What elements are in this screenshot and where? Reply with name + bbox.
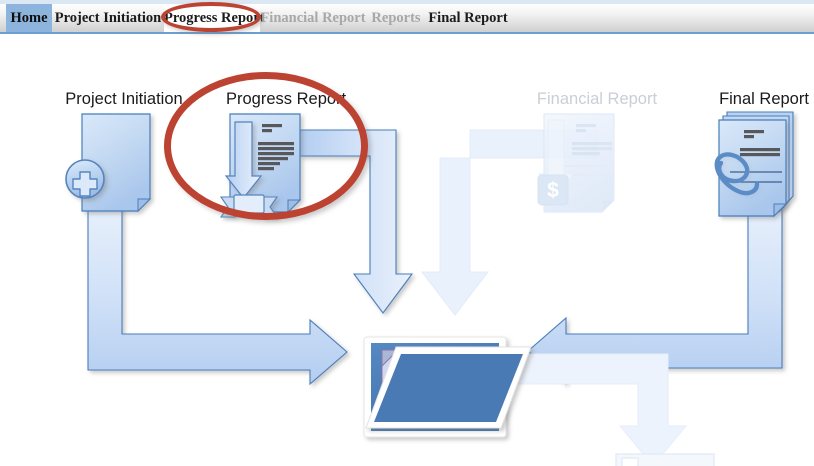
svg-text:$: $ bbox=[547, 179, 559, 202]
tab-financial-report-label: Financial Report bbox=[260, 10, 365, 26]
tab-reports-label: Reports bbox=[371, 10, 420, 26]
tab-final-report[interactable]: Final Report bbox=[426, 4, 510, 32]
dollar-badge-icon: $ bbox=[538, 175, 568, 205]
tab-bar: Home Project Initiation Progress Report … bbox=[0, 0, 814, 34]
tab-final-report-label: Final Report bbox=[428, 10, 507, 26]
tab-progress-report-label: Progress Report bbox=[164, 10, 265, 26]
node-label-project-initiation: Project Initiation bbox=[64, 90, 184, 109]
node-reports-repository[interactable] bbox=[364, 337, 531, 437]
tab-reports: Reports bbox=[366, 4, 426, 32]
node-label-financial-report: Financial Report bbox=[536, 90, 658, 109]
tab-financial-report: Financial Report bbox=[260, 4, 366, 32]
diagram-canvas: $ bbox=[0, 34, 814, 466]
tab-home[interactable]: Home bbox=[6, 4, 52, 32]
connector-project-initiation-to-repository bbox=[88, 199, 347, 384]
tab-project-initiation[interactable]: Project Initiation bbox=[52, 4, 164, 32]
tab-progress-report[interactable]: Progress Report bbox=[164, 4, 260, 32]
node-financial-report: $ bbox=[538, 114, 614, 212]
tab-project-initiation-label: Project Initiation bbox=[55, 10, 161, 26]
node-downstream-item bbox=[616, 454, 714, 466]
node-label-final-report: Final Report bbox=[718, 90, 810, 109]
node-label-progress-report: Progress Report bbox=[226, 90, 344, 109]
ribbon-banner-icon bbox=[221, 195, 277, 217]
node-project-initiation[interactable] bbox=[66, 114, 150, 211]
plus-badge-icon bbox=[66, 160, 104, 198]
connector-progress-report-to-repository bbox=[300, 130, 412, 313]
tab-home-label: Home bbox=[10, 10, 47, 26]
node-final-report[interactable] bbox=[717, 112, 793, 216]
node-progress-report[interactable] bbox=[221, 114, 300, 217]
